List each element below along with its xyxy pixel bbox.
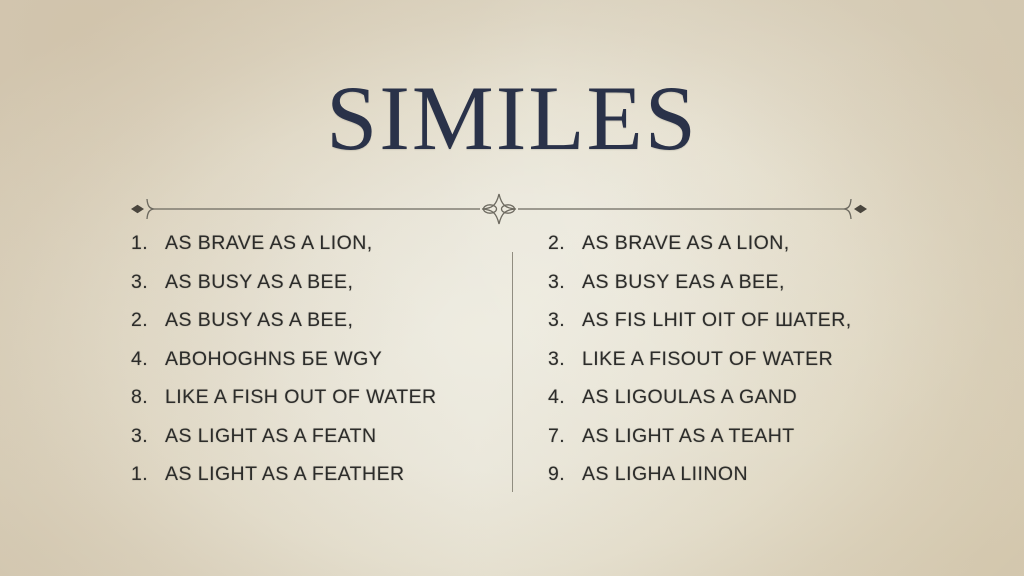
list-item-text: AS LIGHT AS A TEAHT xyxy=(582,425,948,448)
list-item-text: LIKE A FISH OUT OF WATER xyxy=(165,386,491,409)
list-item-number: 9. xyxy=(548,463,582,486)
list-item: 4. ABOHOGHNS БE WGY xyxy=(131,348,491,387)
list-item: 3. LIKE A FISOUT OF WATER xyxy=(548,348,948,387)
list-item-number: 3. xyxy=(548,271,582,294)
list-item-text: ABOHOGHNS БE WGY xyxy=(165,348,491,371)
list-item-text: AS BUSY AS A BEE, xyxy=(165,271,491,294)
list-item-number: 4. xyxy=(548,386,582,409)
list-item-number: 3. xyxy=(131,425,165,448)
page-title: SIMILES xyxy=(0,72,1024,164)
list-item-number: 8. xyxy=(131,386,165,409)
list-item-text: LIKE A FISOUT OF WATER xyxy=(582,348,948,371)
list-item: 3. AS FIS LHIT OIT OF ШATER, xyxy=(548,309,948,348)
list-item-text: AS LIGOULAS A GAND xyxy=(582,386,948,409)
list-item: 7. AS LIGHT AS A TEAHT xyxy=(548,425,948,464)
list-item-number: 7. xyxy=(548,425,582,448)
list-item: 4. AS LIGOULAS A GAND xyxy=(548,386,948,425)
ornamental-divider xyxy=(128,193,870,225)
list-item: 1. AS BRAVE AS A LION, xyxy=(131,232,491,271)
list-item: 3. AS BUSY AS A BEE, xyxy=(131,271,491,310)
list-item: 2. AS BUSY AS A BEE, xyxy=(131,309,491,348)
list-item: 2. AS BRAVE AS A LION, xyxy=(548,232,948,271)
list-item-text: AS LIGHT AS A FEATHER xyxy=(165,463,491,486)
list-item-number: 3. xyxy=(548,309,582,332)
list-item-text: AS BUSY EAS A BEE, xyxy=(582,271,948,294)
list-item-number: 3. xyxy=(131,271,165,294)
slide-canvas: SIMILES xyxy=(0,0,1024,576)
list-item: 8. LIKE A FISH OUT OF WATER xyxy=(131,386,491,425)
list-item-text: AS BUSY AS A BEE, xyxy=(165,309,491,332)
list-item: 3. AS BUSY EAS A BEE, xyxy=(548,271,948,310)
list-item-text: AS FIS LHIT OIT OF ШATER, xyxy=(582,309,948,332)
simile-list-right: 2. AS BRAVE AS A LION, 3. AS BUSY EAS A … xyxy=(548,232,948,502)
list-item-number: 1. xyxy=(131,463,165,486)
list-item-text: AS LIGHT AS A FEATN xyxy=(165,425,491,448)
list-item-text: AS BRAVE AS A LION, xyxy=(165,232,491,255)
list-item-number: 3. xyxy=(548,348,582,371)
list-item-text: AS BRAVE AS A LION, xyxy=(582,232,948,255)
list-item: 9. AS LIGHA LIINON xyxy=(548,463,948,502)
simile-lists: 1. AS BRAVE AS A LION, 3. AS BUSY AS A B… xyxy=(0,232,1024,504)
divider-ornament-icon xyxy=(128,193,870,225)
simile-list-left: 1. AS BRAVE AS A LION, 3. AS BUSY AS A B… xyxy=(131,232,491,502)
list-item-number: 4. xyxy=(131,348,165,371)
list-item: 1. AS LIGHT AS A FEATHER xyxy=(131,463,491,502)
list-item: 3. AS LIGHT AS A FEATN xyxy=(131,425,491,464)
list-item-number: 2. xyxy=(131,309,165,332)
list-item-number: 1. xyxy=(131,232,165,255)
list-item-text: AS LIGHA LIINON xyxy=(582,463,948,486)
column-separator xyxy=(512,252,513,492)
list-item-number: 2. xyxy=(548,232,582,255)
